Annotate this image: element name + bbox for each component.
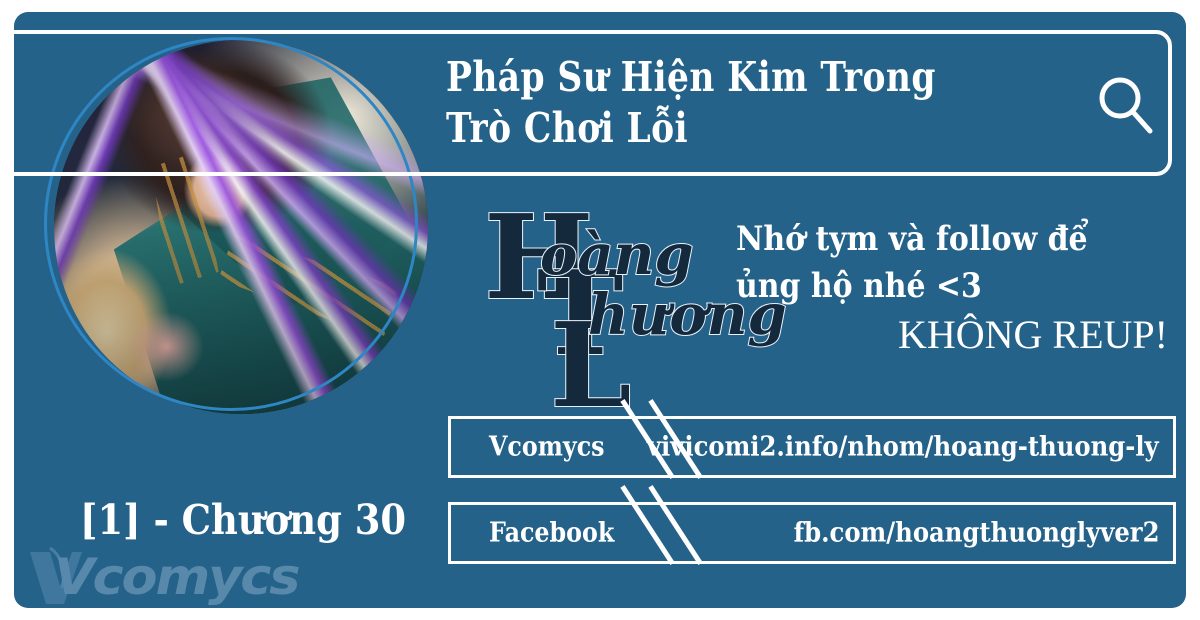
- banner-panel: Pháp Sư Hiện Kim Trong Trò Chơi Lỗi H T …: [14, 12, 1186, 608]
- double-slash-icon: [627, 493, 747, 579]
- no-reup-notice: KHÔNG REUP!: [736, 310, 1176, 360]
- info-label: Vcomycs: [489, 432, 605, 463]
- search-icon[interactable]: [1096, 74, 1154, 136]
- tagline-line-1: Nhớ tym và follow để: [736, 216, 1123, 263]
- vcomycs-watermark: Vcomycs: [20, 546, 280, 608]
- tagline-block: Nhớ tym và follow để ủng hộ nhé <3 KHÔNG…: [736, 216, 1176, 360]
- chapter-label: [1] - Chương 30: [80, 495, 406, 545]
- info-row-vcomycs[interactable]: Vcomycs vivicomi2.info/nhom/hoang-thuong…: [448, 416, 1176, 478]
- info-value[interactable]: vivicomi2.info/nhom/hoang-thuong-ly: [647, 432, 1159, 463]
- title-line-1: Pháp Sư Hiện Kim Trong: [446, 52, 950, 103]
- group-logo: H T L oàng hương: [484, 204, 724, 382]
- page-title: Pháp Sư Hiện Kim Trong Trò Chơi Lỗi: [446, 52, 1046, 154]
- logo-script-oang: oàng: [540, 222, 694, 288]
- tagline-line-2: ủng hộ nhé <3: [736, 263, 1123, 310]
- title-line-2: Trò Chơi Lỗi: [446, 103, 950, 154]
- vcomycs-watermark-text: Vcomycs: [54, 548, 298, 606]
- info-label: Facebook: [489, 518, 614, 549]
- info-row-facebook[interactable]: Facebook fb.com/hoangthuonglyver2: [448, 502, 1176, 564]
- info-value[interactable]: fb.com/hoangthuonglyver2: [793, 518, 1159, 549]
- search-icon-glyph: [1096, 74, 1154, 136]
